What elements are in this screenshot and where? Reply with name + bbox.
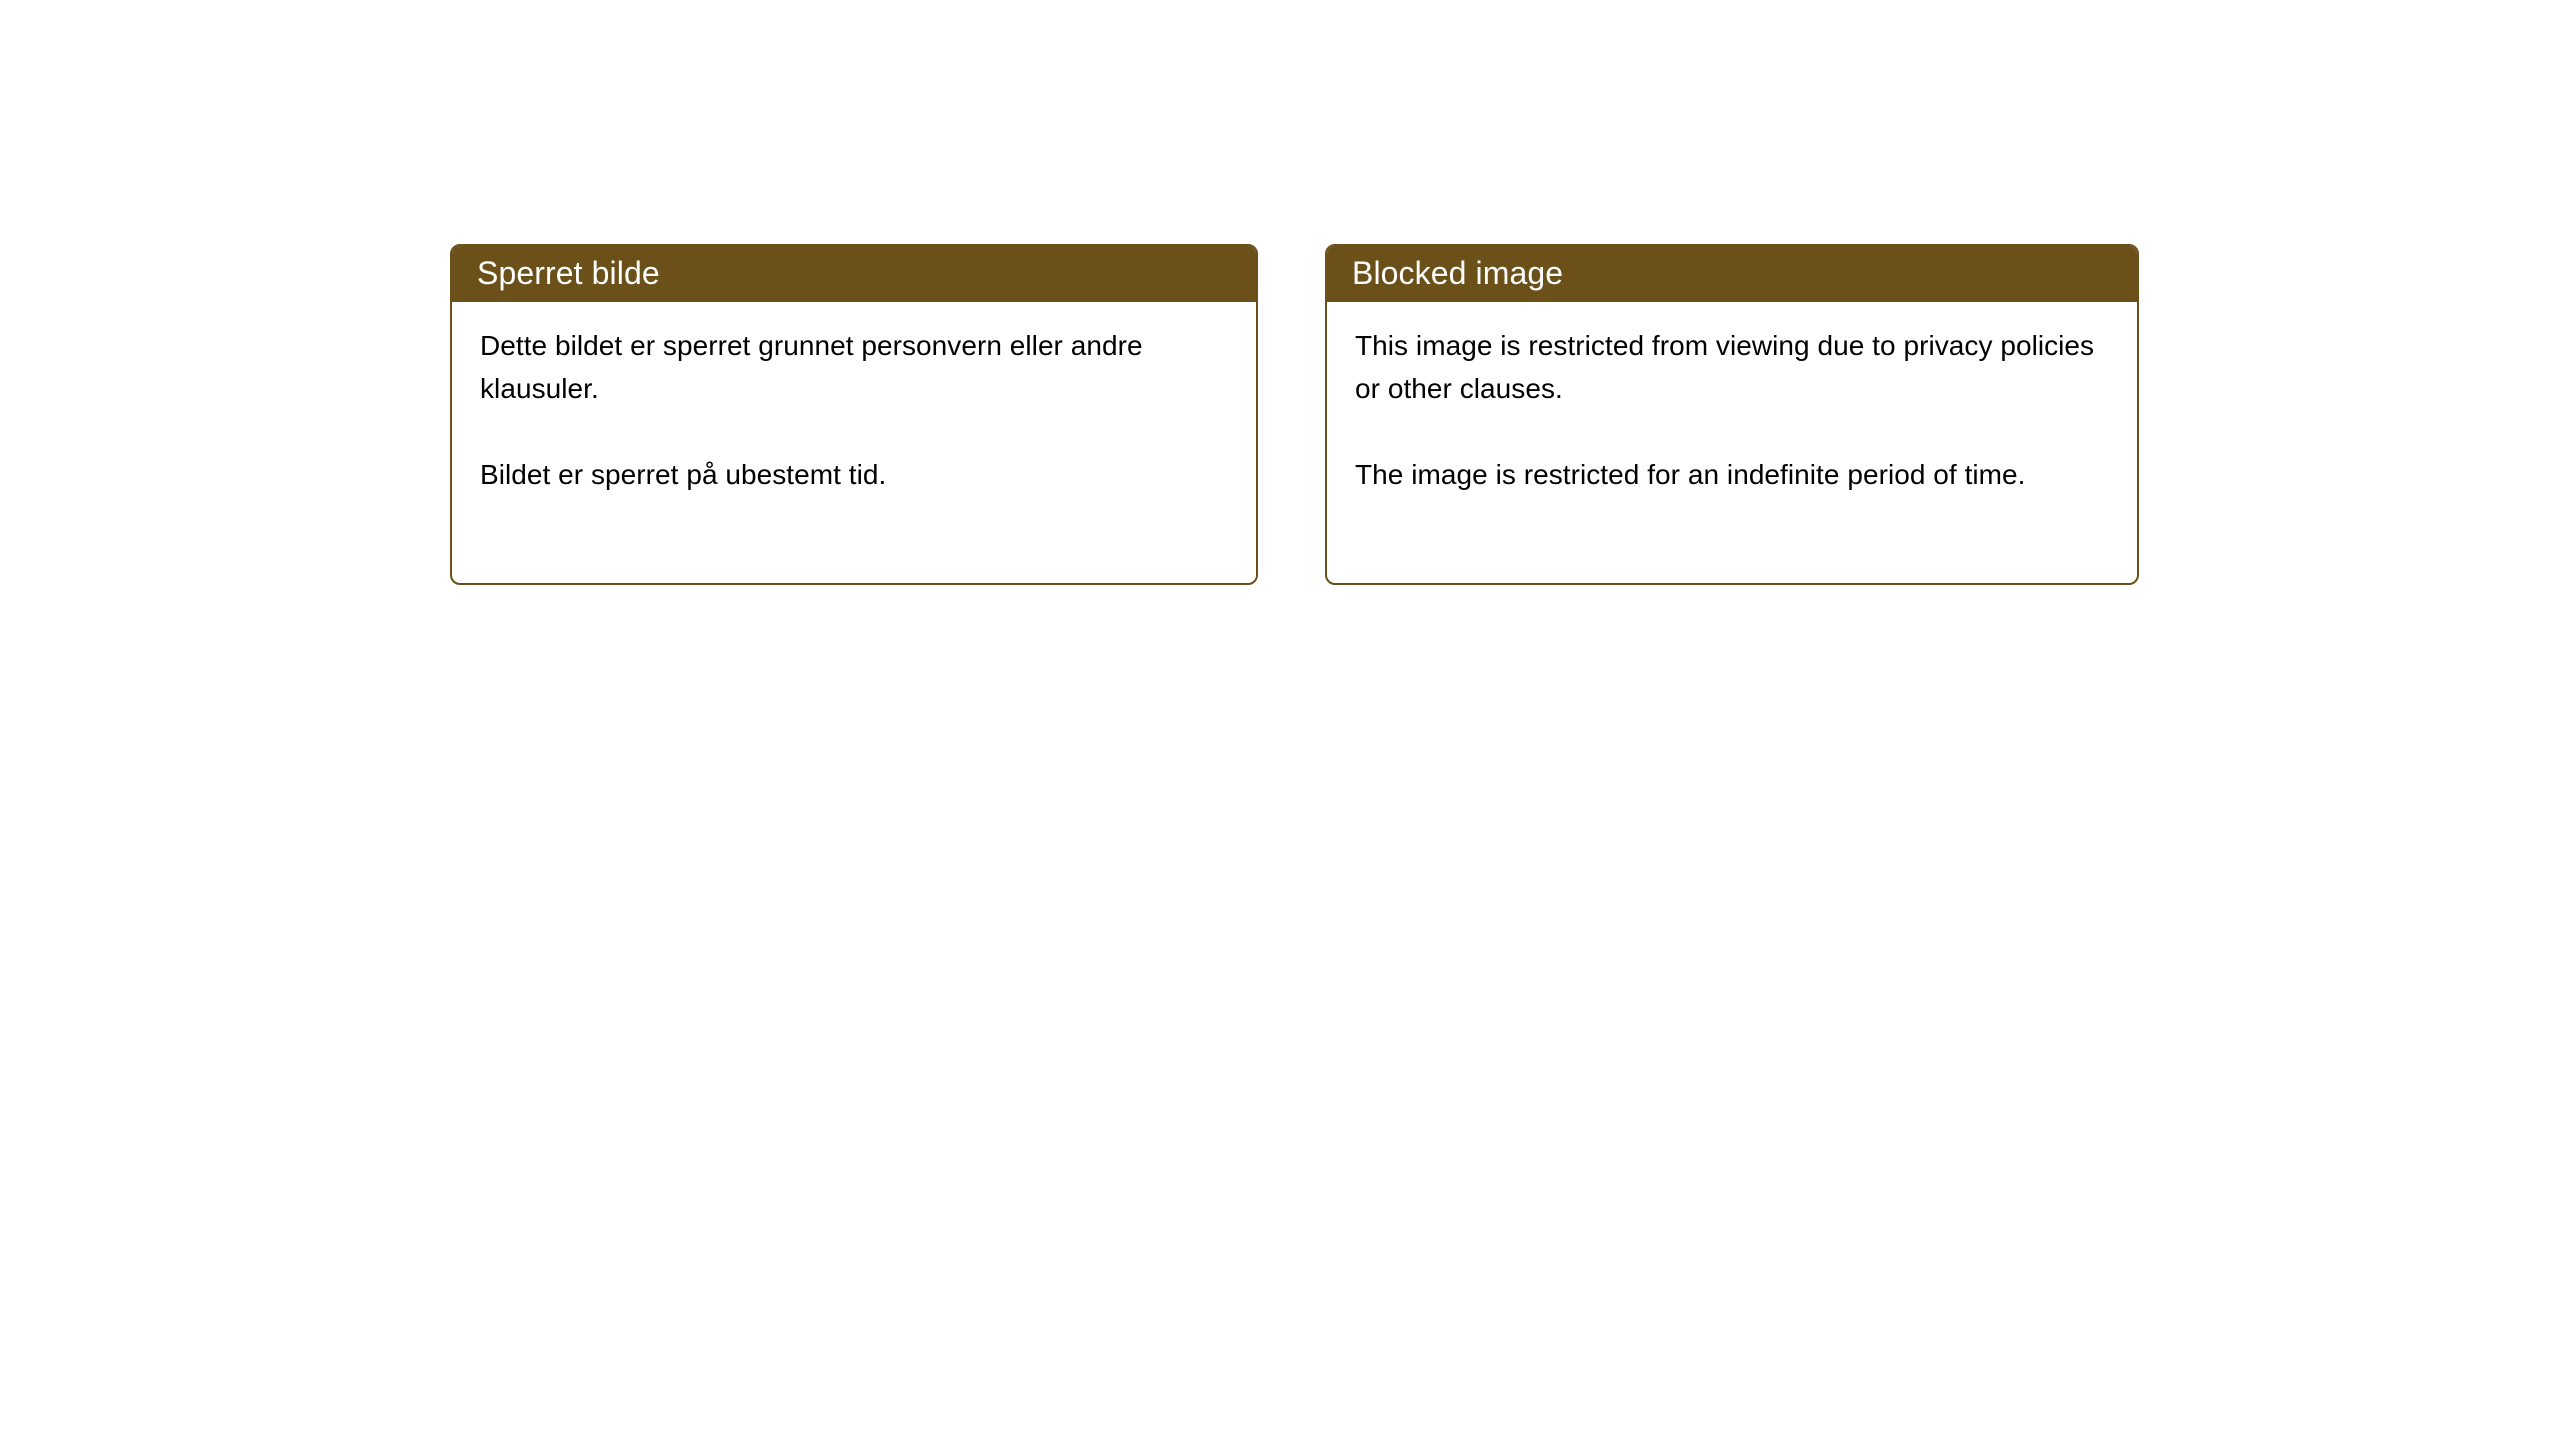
blocked-image-notice-card-no: Sperret bilde Dette bildet er sperret gr… xyxy=(450,244,1258,585)
notice-card-title-en: Blocked image xyxy=(1352,256,1563,290)
notice-paragraph-duration-no: Bildet er sperret på ubestemt tid. xyxy=(480,453,1232,496)
notice-card-body-en: This image is restricted from viewing du… xyxy=(1327,302,2137,496)
page-root: Sperret bilde Dette bildet er sperret gr… xyxy=(0,0,2560,1440)
notice-card-title-no: Sperret bilde xyxy=(477,256,660,290)
notice-paragraph-reason-no: Dette bildet er sperret grunnet personve… xyxy=(480,324,1232,410)
blocked-image-notice-card-en: Blocked image This image is restricted f… xyxy=(1325,244,2139,585)
notice-card-header-en: Blocked image xyxy=(1325,244,2139,302)
notice-card-header-no: Sperret bilde xyxy=(450,244,1258,302)
notice-paragraph-reason-en: This image is restricted from viewing du… xyxy=(1355,324,2113,410)
notice-card-body-no: Dette bildet er sperret grunnet personve… xyxy=(452,302,1256,496)
notice-paragraph-duration-en: The image is restricted for an indefinit… xyxy=(1355,453,2113,496)
